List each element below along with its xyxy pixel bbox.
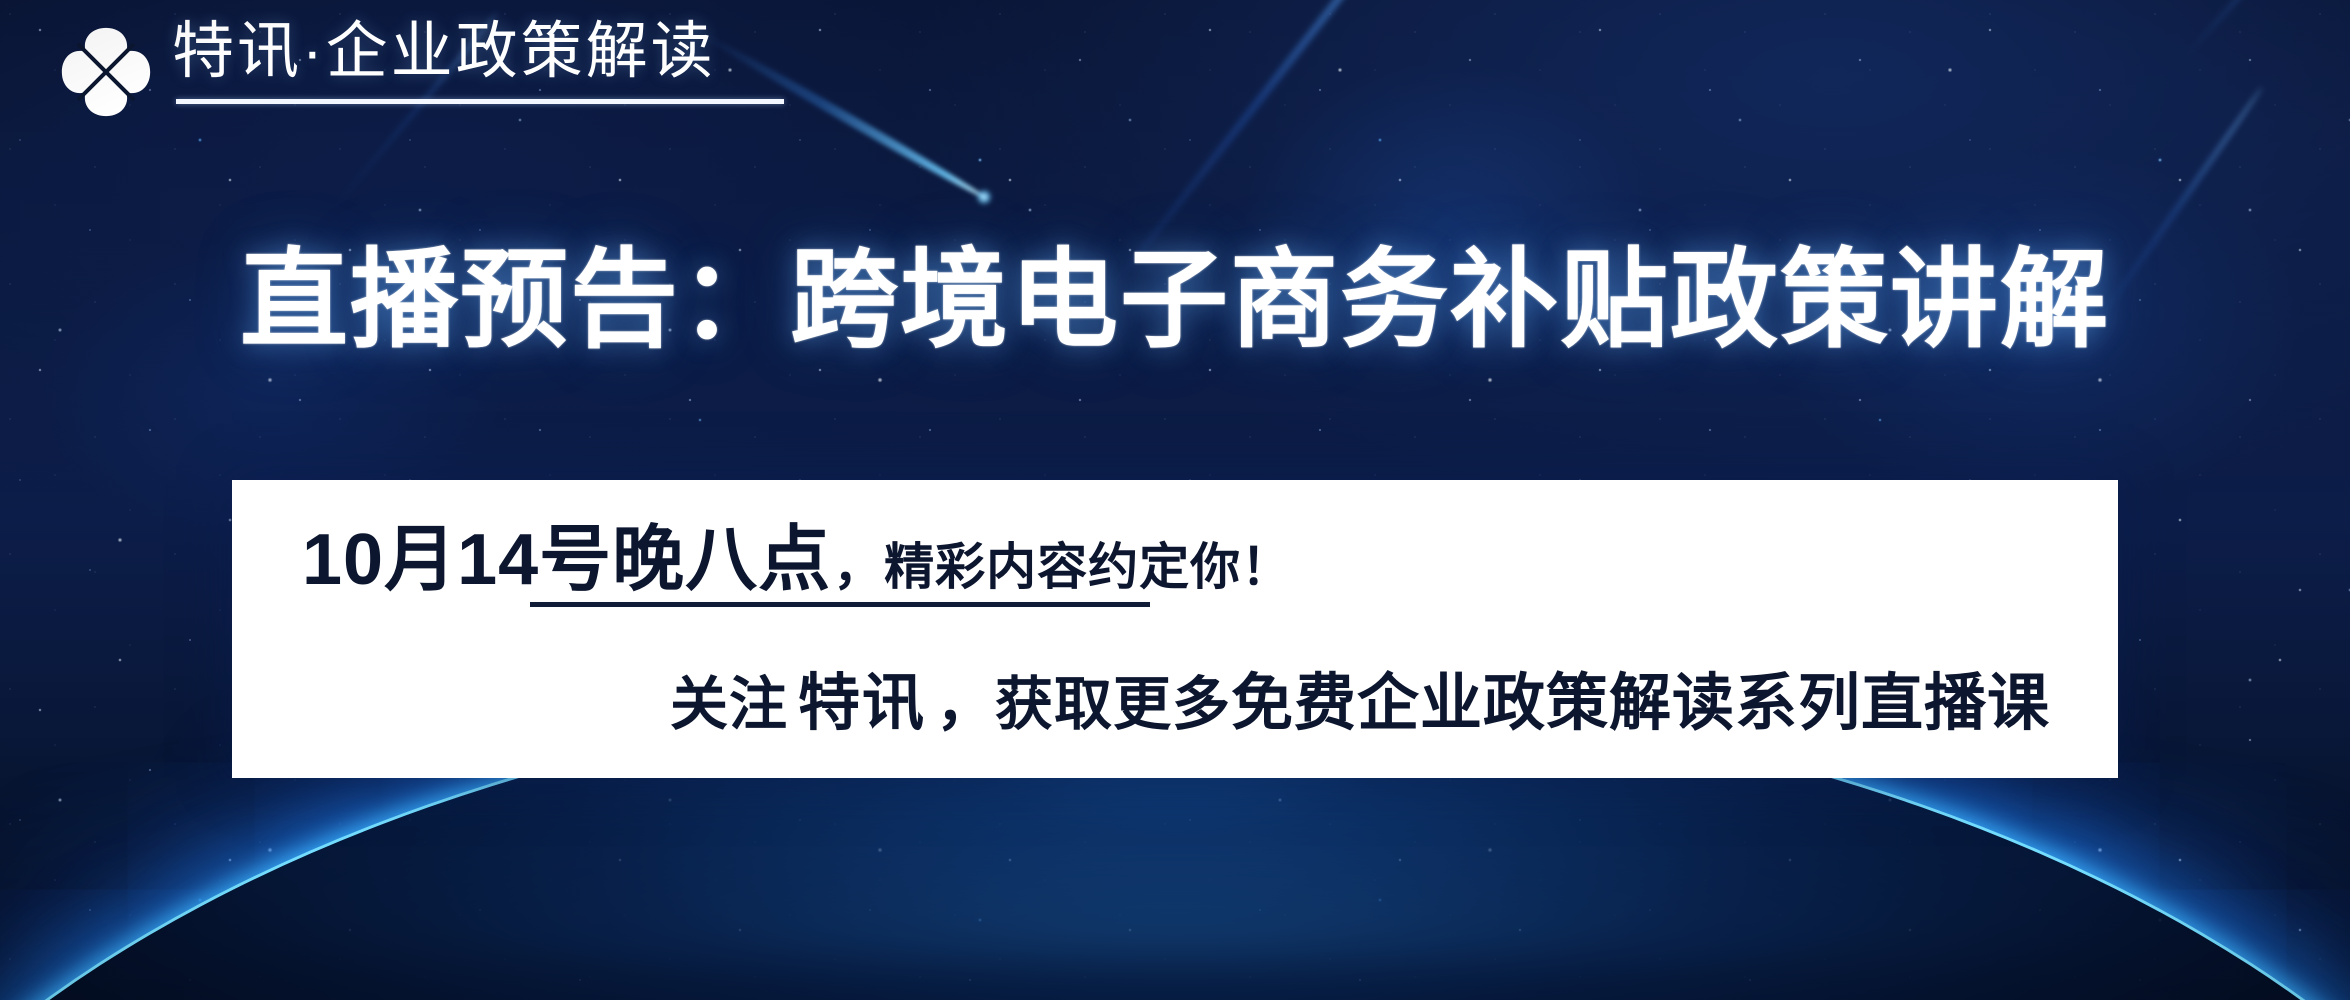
brand-name: 特讯·企业政策解读 — [172, 20, 784, 83]
broadcast-tagline: ，精彩内容约定你！ — [833, 542, 1292, 592]
follow-label: 关注 — [670, 657, 788, 741]
info-line-primary: 10月14号晚八点 ，精彩内容约定你！ — [302, 524, 1292, 596]
page-title: 直播预告：跨境电子商务补贴政策讲解 — [0, 243, 2350, 357]
four-petal-clover-logo-icon — [58, 24, 154, 120]
comet-streak-icon — [2178, 0, 2322, 64]
brand-underline-rule — [176, 99, 784, 104]
info-panel-divider — [530, 602, 1150, 607]
info-panel: 10月14号晚八点 ，精彩内容约定你！ 关注 特讯 ，获取更多 免费企业政策解读… — [232, 480, 2118, 778]
series-highlight-text: 免费企业政策解读系列直播课 — [1231, 652, 2050, 742]
comet-head-icon — [973, 186, 995, 208]
brand-text-block: 特讯·企业政策解读 — [172, 20, 784, 104]
info-line-secondary: 关注 特讯 ，获取更多 免费企业政策解读系列直播课 — [670, 652, 2050, 742]
get-more-label: ，获取更多 — [936, 657, 1231, 741]
poster-canvas: 特讯·企业政策解读 直播预告：跨境电子商务补贴政策讲解 10月14号晚八点 ，精… — [0, 0, 2350, 1000]
follow-brand-name: 特讯 — [798, 652, 926, 742]
brand-lockup: 特讯·企业政策解读 — [58, 20, 784, 120]
broadcast-datetime: 10月14号晚八点 — [302, 524, 831, 596]
